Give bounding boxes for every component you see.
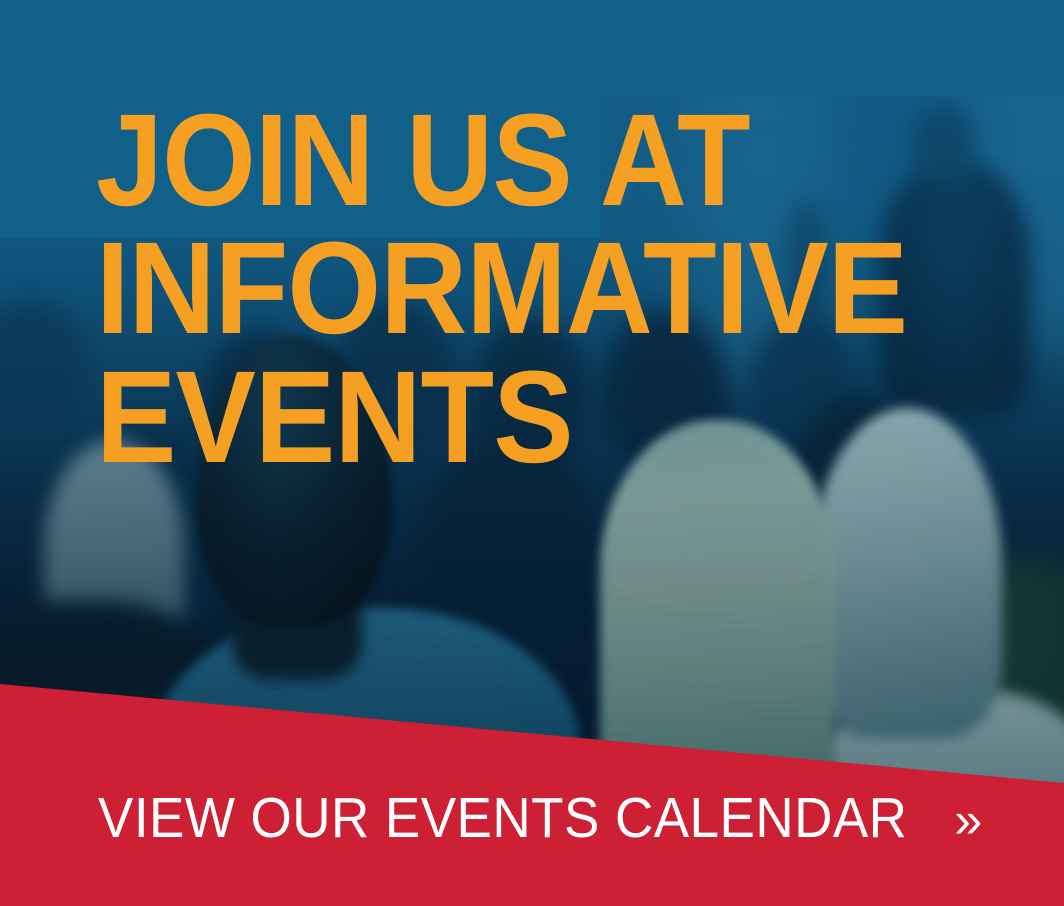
banner-headline: JOIN US AT INFORMATIVE EVENTS	[96, 96, 976, 481]
flat-blue-plate-top	[0, 0, 1064, 96]
double-chevron-right-icon: »	[954, 795, 982, 845]
cta-label: VIEW OUR EVENTS CALENDAR	[98, 790, 907, 847]
headline-line-3: EVENTS	[96, 353, 906, 481]
headline-line-1: JOIN US AT	[96, 96, 906, 224]
events-promo-banner[interactable]: JOIN US AT INFORMATIVE EVENTS VIEW OUR E…	[0, 0, 1064, 906]
view-events-calendar-link[interactable]: VIEW OUR EVENTS CALENDAR »	[98, 790, 982, 847]
headline-line-2: INFORMATIVE	[96, 224, 906, 352]
